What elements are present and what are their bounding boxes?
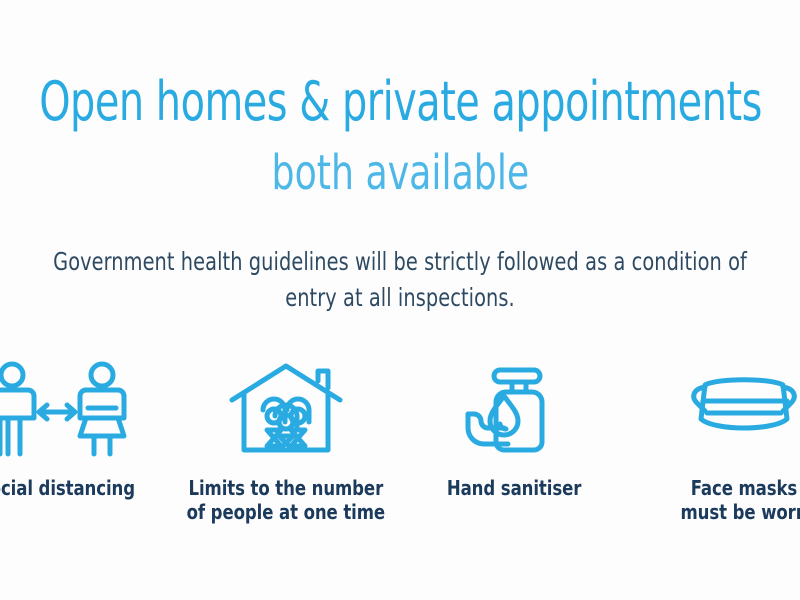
safety-measures-row: Social distancing — [0, 358, 800, 525]
covid-safety-poster: Open homes & private appointments both a… — [0, 0, 800, 600]
measure-face-mask: Face masks must be worn — [629, 358, 800, 525]
headline-container: Open homes & private appointments — [0, 74, 800, 129]
house-occupancy-limit-icon — [226, 358, 346, 462]
hand-sanitiser-icon — [460, 358, 570, 462]
measure-caption: Limits to the number of people at one ti… — [186, 476, 384, 525]
measure-social-distancing: Social distancing — [0, 358, 171, 500]
body-paragraph-line-1: Government health guidelines will be str… — [13, 244, 787, 280]
social-distancing-icon — [0, 358, 132, 462]
face-mask-icon — [679, 358, 800, 462]
measure-caption: Face masks must be worn — [680, 476, 800, 525]
page-subtitle: both available — [271, 148, 529, 198]
measure-hand-sanitiser: Hand sanitiser — [400, 358, 629, 500]
page-title: Open homes & private appointments — [39, 74, 761, 129]
body-paragraph: Government health guidelines will be str… — [0, 244, 800, 315]
body-paragraph-line-2: entry at all inspections. — [13, 280, 787, 316]
measure-occupancy-limit: Limits to the number of people at one ti… — [171, 358, 400, 525]
measure-caption: Hand sanitiser — [447, 476, 581, 500]
measure-caption: Social distancing — [0, 476, 135, 500]
subtitle-container: both available — [0, 148, 800, 198]
